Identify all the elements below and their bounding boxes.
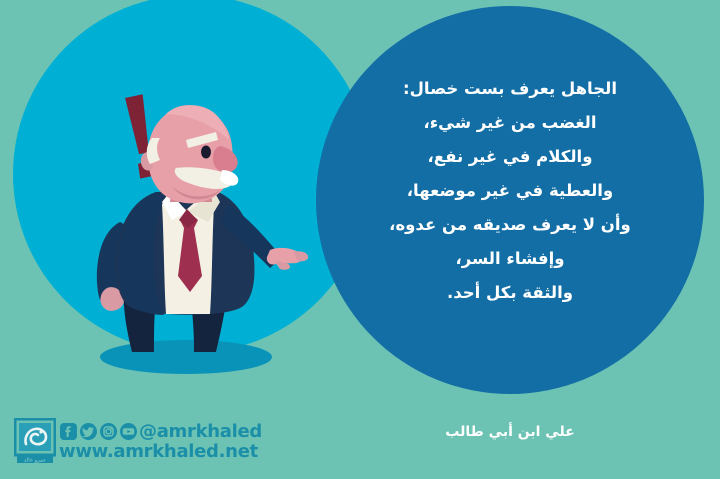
branding-text-block: @amrkhaled www.amrkhaled.net — [59, 421, 262, 461]
social-icon-group[interactable] — [59, 422, 138, 441]
quote-line: وإفشاء السر، — [330, 242, 690, 276]
quote-attribution: علي ابن أبي طالب — [330, 424, 690, 440]
youtube-icon[interactable] — [119, 422, 138, 441]
eye — [201, 146, 211, 159]
social-row: @amrkhaled — [59, 421, 262, 442]
facebook-icon[interactable] — [59, 422, 78, 441]
branding-bar[interactable]: عمرو خالد — [14, 416, 262, 466]
pointing-hand — [267, 248, 308, 270]
ground-shadow — [100, 340, 272, 374]
quote-line: والثقة بكل أحد. — [330, 276, 690, 310]
instagram-icon[interactable] — [99, 422, 118, 441]
quote-line: الجاهل يعرف بست خصال: — [330, 72, 690, 106]
poster-canvas: الجاهل يعرف بست خصال: الغضب من غير شيء، … — [0, 0, 720, 479]
quote-line: وأن لا يعرف صديقه من عدوه، — [330, 208, 690, 242]
social-handle[interactable]: @amrkhaled — [139, 423, 262, 441]
quote-block: الجاهل يعرف بست خصال: الغضب من غير شيء، … — [330, 72, 690, 310]
nose — [213, 146, 238, 172]
quote-line: والكلام في غير نفع، — [330, 140, 690, 174]
website-url[interactable]: www.amrkhaled.net — [59, 443, 262, 461]
logo-caption: عمرو خالد — [24, 458, 46, 464]
amr-khaled-logo[interactable]: عمرو خالد — [14, 418, 56, 464]
quote-line: الغضب من غير شيء، — [330, 106, 690, 140]
quote-line: والعطية في غير موضعها، — [330, 174, 690, 208]
twitter-icon[interactable] — [79, 422, 98, 441]
angry-businessman-illustration — [60, 70, 320, 380]
